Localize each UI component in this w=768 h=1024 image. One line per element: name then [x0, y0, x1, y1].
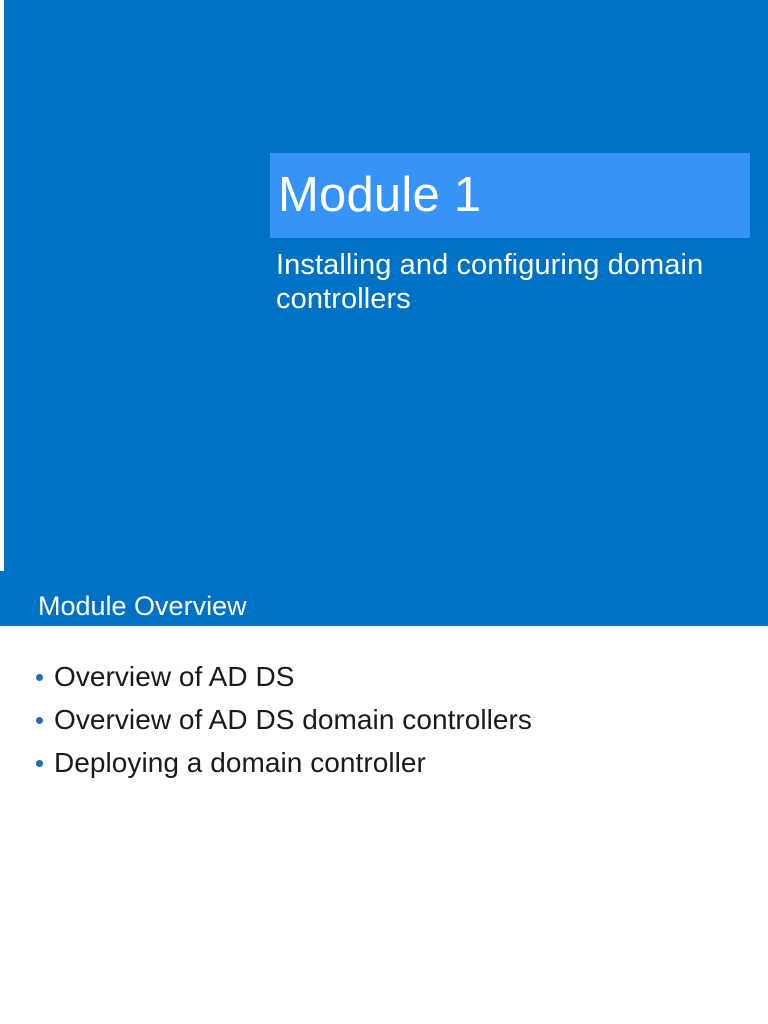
slide-body: Overview of AD DS Overview of AD DS doma…: [0, 626, 768, 1024]
agenda-bullet-list: Overview of AD DS Overview of AD DS doma…: [36, 662, 736, 791]
bullet-dot-icon: [36, 674, 43, 681]
section-header-title: Module Overview: [38, 590, 247, 622]
list-item: Deploying a domain controller: [36, 748, 736, 777]
bullet-dot-icon: [36, 717, 43, 724]
slide-title: Module 1: [278, 161, 748, 229]
slide-subtitle: Installing and configuring domain contro…: [276, 248, 738, 316]
list-item-label: Overview of AD DS domain controllers: [54, 704, 532, 735]
list-item: Overview of AD DS domain controllers: [36, 705, 736, 734]
list-item-label: Overview of AD DS: [54, 661, 294, 692]
presentation-slide: Module 1 Installing and configuring doma…: [0, 0, 768, 1024]
left-edge-strip: [0, 0, 4, 571]
bullet-dot-icon: [36, 760, 43, 767]
list-item-label: Deploying a domain controller: [54, 747, 426, 778]
list-item: Overview of AD DS: [36, 662, 736, 691]
